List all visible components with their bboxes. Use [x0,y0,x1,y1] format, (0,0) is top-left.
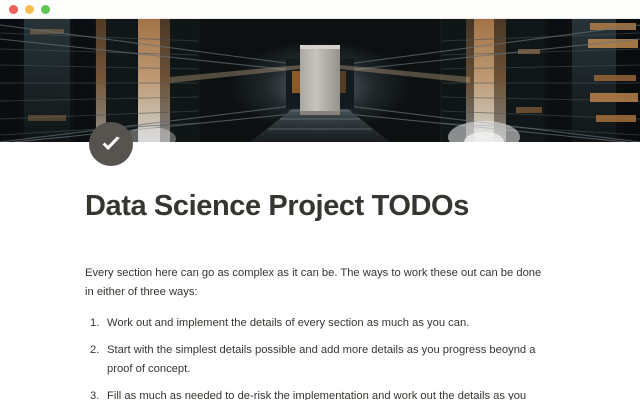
window-titlebar [0,0,640,19]
check-circle-icon [98,131,124,157]
cover-image[interactable] [0,19,640,142]
close-button[interactable] [9,5,18,14]
list-item-text[interactable]: Fill as much as needed to de-risk the im… [107,387,547,400]
app-window: Data Science Project TODOs Every section… [0,0,640,400]
list-item[interactable]: 3. Fill as much as needed to de-risk the… [85,387,547,400]
page-content: Data Science Project TODOs Every section… [0,142,640,400]
maximize-button[interactable] [41,5,50,14]
page-title[interactable]: Data Science Project TODOs [85,189,640,224]
window-controls [9,5,50,14]
list-item[interactable]: 2. Start with the simplest details possi… [85,341,547,380]
list-item[interactable]: 1. Work out and implement the details of… [85,314,547,334]
minimize-button[interactable] [25,5,34,14]
list-item-number: 3. [85,387,107,400]
cover-image-artwork [0,19,640,142]
list-item-text[interactable]: Start with the simplest details possible… [107,341,547,380]
todo-list: 1. Work out and implement the details of… [85,314,547,400]
list-item-text[interactable]: Work out and implement the details of ev… [107,314,547,334]
list-item-number: 1. [85,314,107,334]
page-icon[interactable] [89,122,133,166]
intro-paragraph[interactable]: Every section here can go as complex as … [85,264,547,303]
list-item-number: 2. [85,341,107,361]
